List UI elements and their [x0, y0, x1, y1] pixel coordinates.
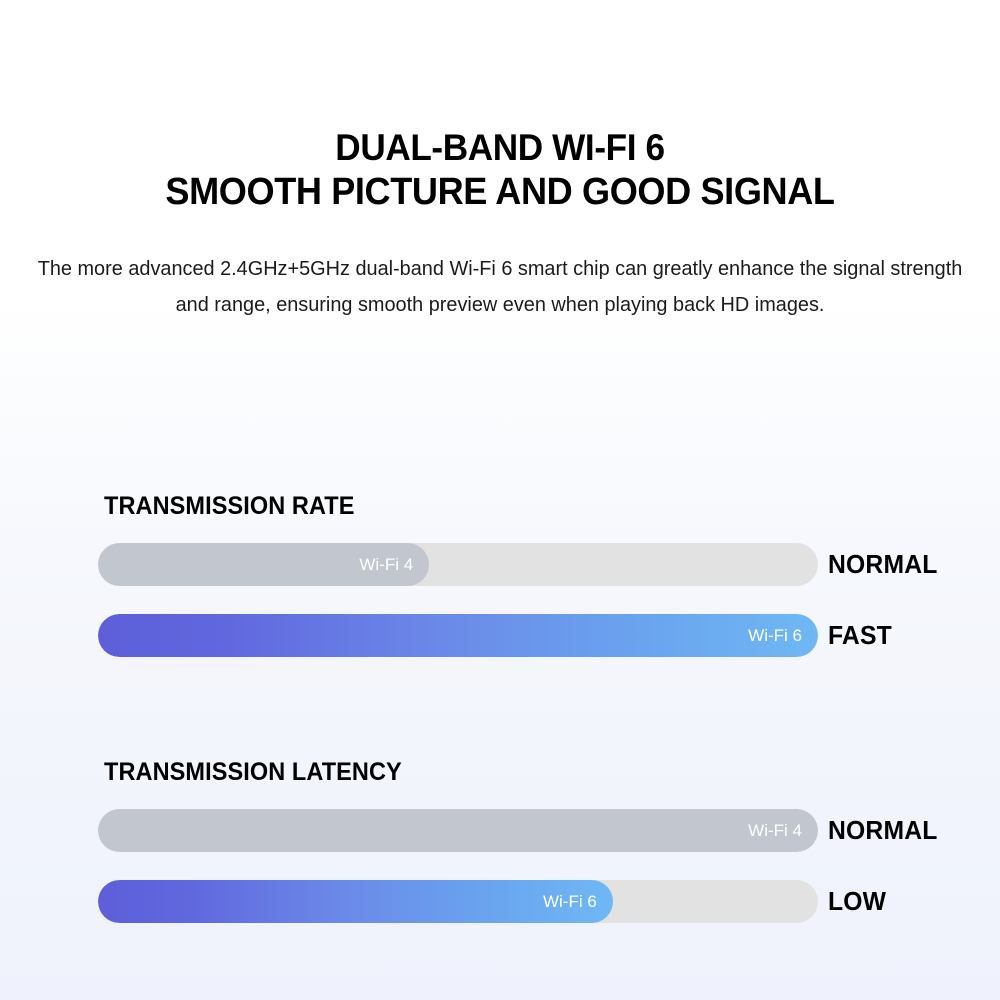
bar-fill-label-rate-wifi6: Wi-Fi 6 [748, 614, 802, 657]
headline-line-1: DUAL-BAND WI-FI 6 [335, 127, 664, 168]
bar-qualifier-latency-wifi4: NORMAL [828, 815, 938, 846]
promo-page: DUAL-BAND WI-FI 6 SMOOTH PICTURE AND GOO… [0, 0, 1000, 1000]
bar-fill-latency-wifi4: Wi-Fi 4 [98, 809, 818, 852]
chart-title-latency: TRANSMISSION LATENCY [104, 758, 926, 787]
bar-fill-label-rate-wifi4: Wi-Fi 4 [359, 543, 413, 586]
chart-title-rate: TRANSMISSION RATE [104, 492, 926, 521]
bar-qualifier-rate-wifi6: FAST [828, 620, 892, 651]
bar-track-latency-wifi6: Wi-Fi 6 [98, 880, 818, 923]
bar-track-rate-wifi6: Wi-Fi 6 [98, 614, 818, 657]
bar-row-rate-wifi6: Wi-Fi 6 FAST [98, 614, 978, 657]
bar-row-latency-wifi6: Wi-Fi 6 LOW [98, 880, 978, 923]
bar-fill-label-latency-wifi6: Wi-Fi 6 [543, 880, 597, 923]
bar-track-rate-wifi4: Wi-Fi 4 [98, 543, 818, 586]
bar-fill-rate-wifi6: Wi-Fi 6 [98, 614, 818, 657]
bar-row-rate-wifi4: Wi-Fi 4 NORMAL [98, 543, 978, 586]
chart-transmission-rate: TRANSMISSION RATE Wi-Fi 4 NORMAL Wi-Fi 6… [98, 492, 978, 657]
chart-transmission-latency: TRANSMISSION LATENCY Wi-Fi 4 NORMAL Wi-F… [98, 758, 978, 923]
bar-qualifier-latency-wifi6: LOW [828, 886, 886, 917]
bar-fill-latency-wifi6: Wi-Fi 6 [98, 880, 613, 923]
bar-row-latency-wifi4: Wi-Fi 4 NORMAL [98, 809, 978, 852]
headline-line-2: SMOOTH PICTURE AND GOOD SIGNAL [25, 170, 975, 214]
bar-qualifier-rate-wifi4: NORMAL [828, 549, 938, 580]
bar-track-latency-wifi4: Wi-Fi 4 [98, 809, 818, 852]
header-section: DUAL-BAND WI-FI 6 SMOOTH PICTURE AND GOO… [0, 126, 1000, 214]
description-paragraph: The more advanced 2.4GHz+5GHz dual-band … [15, 251, 985, 323]
bar-fill-label-latency-wifi4: Wi-Fi 4 [748, 809, 802, 852]
page-title: DUAL-BAND WI-FI 6 SMOOTH PICTURE AND GOO… [25, 126, 975, 214]
bar-fill-rate-wifi4: Wi-Fi 4 [98, 543, 429, 586]
